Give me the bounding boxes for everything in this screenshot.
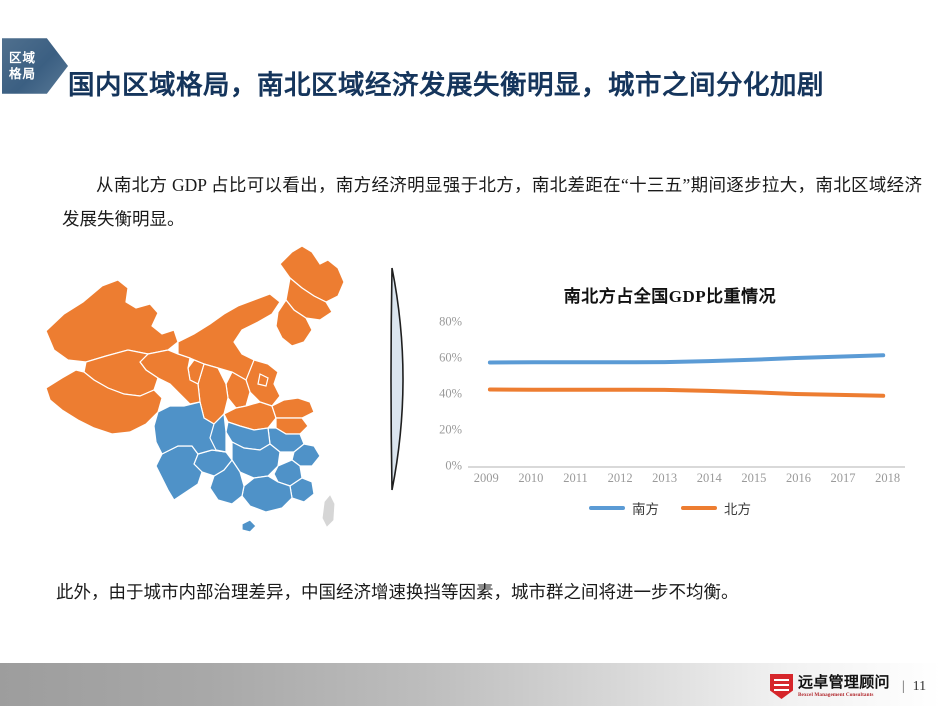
china-map [28,238,388,538]
chart-series-layer [468,322,905,466]
page-title: 国内区域格局，南北区域经济发展失衡明显，城市之间分化加剧 [68,66,898,104]
badge-line-2: 格局 [9,66,36,82]
legend-label-0: 南方 [632,498,659,518]
slide-header: 区域 格局 国内区域格局，南北区域经济发展失衡明显，城市之间分化加剧 [0,30,941,120]
map-region-taiwan [323,496,334,526]
x-tick-2017: 2017 [821,471,866,486]
footer-logo: 远卓管理顾问 Bexcel Management Consultants | 1… [770,674,926,699]
legend-item-1[interactable]: 北方 [681,498,751,518]
chart-line-0 [490,355,883,362]
lens-pointer-shape [386,266,420,492]
y-tick-40: 40% [418,387,462,402]
x-tick-2014: 2014 [687,471,732,486]
x-tick-2010: 2010 [509,471,554,486]
gdp-share-chart: 南北方占全国GDP比重情况 80% 60% 40% 20% 0% 2009201… [420,282,920,532]
badge-line-1: 区域 [9,50,36,66]
company-name-cn: 远卓管理顾问 [798,675,890,691]
slide: 区域 格局 国内区域格局，南北区域经济发展失衡明显，城市之间分化加剧 从南北方 … [0,0,941,706]
company-name-en: Bexcel Management Consultants [798,691,890,699]
company-logo-icon [770,674,793,699]
chart-line-1 [490,390,883,396]
china-map-svg [28,238,388,538]
lens-svg [386,266,420,492]
legend-item-0[interactable]: 南方 [589,498,659,518]
page-number: 11 [913,679,926,695]
section-tag-badge: 区域 格局 [2,33,68,99]
page-separator: | [902,679,905,695]
intro-paragraph: 从南北方 GDP 占比可以看出，南方经济明显强于北方，南北差距在“十三五”期间逐… [62,168,922,236]
legend-label-1: 北方 [724,498,751,518]
x-tick-2016: 2016 [776,471,821,486]
x-tick-2011: 2011 [553,471,598,486]
conclusion-paragraph: 此外，由于城市内部治理差异，中国经济增速换挡等因素，城市群之间将进一步不均衡。 [56,577,926,607]
x-tick-2013: 2013 [642,471,687,486]
chart-x-tick-labels: 2009201020112012201320142015201620172018 [464,471,910,486]
x-tick-2009: 2009 [464,471,509,486]
legend-swatch-1 [681,506,717,511]
chart-title: 南北方占全国GDP比重情况 [420,282,920,307]
chart-x-axis [468,466,905,468]
legend-swatch-0 [589,506,625,511]
y-tick-80: 80% [418,315,462,330]
chart-legend: 南方北方 [420,498,920,518]
y-tick-60: 60% [418,351,462,366]
x-tick-2012: 2012 [598,471,643,486]
y-tick-0: 0% [418,459,462,474]
chart-plot-area: 80% 60% 40% 20% 0% [468,322,905,466]
company-logo-text: 远卓管理顾问 Bexcel Management Consultants [798,675,890,699]
x-tick-2018: 2018 [865,471,910,486]
y-tick-20: 20% [418,423,462,438]
x-tick-2015: 2015 [732,471,777,486]
